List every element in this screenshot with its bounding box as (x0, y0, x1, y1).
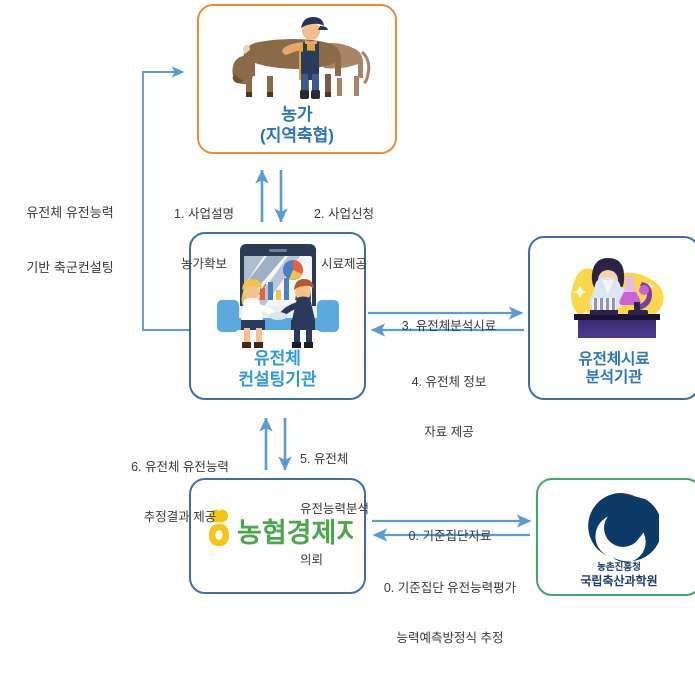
flow-label-step1-line1: 1. 사업설명 (150, 206, 258, 223)
node-farm-title: 농가 (199, 105, 395, 125)
flow-label-step5-line1: 5. 유전체 (300, 451, 430, 468)
node-lab-caption: 유전체시료 분석기관 (530, 351, 695, 388)
node-rda-caption: 농촌진흥청 국립축산과학원 (538, 562, 695, 588)
node-farm-caption: 농가 (지역축협) (199, 105, 395, 146)
flow-label-step1-line2: 농가확보 (150, 256, 258, 273)
flow-label-step3-line1: 3. 유전체분석시료 (366, 318, 532, 335)
farmer-with-cow-icon (225, 12, 375, 108)
flow-label-step2-line2: 시료제공 (288, 256, 400, 273)
node-farm[interactable]: 농가 (지역축협) (197, 4, 397, 154)
flow-label-step0b-line2: 능력예측방정식 추정 (352, 630, 548, 647)
flow-label-step0b-line1: 0. 기준집단 유전능력평가 (352, 580, 548, 597)
flow-label-left-loop-line2: 기반 축군컨설팅 (4, 259, 136, 277)
node-consulting-title: 유전체 (191, 349, 364, 369)
flow-label-left-loop: 유전체 유전능력 기반 축군컨설팅 (4, 168, 136, 314)
node-lab-title: 유전체시료 (530, 351, 695, 370)
flow-label-step6-line1: 6. 유전체 유전능력 (104, 459, 256, 476)
node-lab-subtitle: 분석기관 (530, 369, 695, 388)
node-farm-subtitle: (지역축협) (199, 126, 395, 146)
flow-label-step0a-line1: 0. 기준집단자료 (370, 528, 530, 545)
node-analysis-lab[interactable]: 유전체시료 분석기관 (528, 236, 695, 400)
flow-label-step1: 1. 사업설명 농가확보 (150, 172, 258, 307)
flow-label-step4-line1: 4. 유전체 정보 (366, 374, 532, 391)
node-rda-title: 농촌진흥청 (538, 562, 695, 573)
lab-scientist-icon (550, 252, 680, 352)
flow-label-step2-line1: 2. 사업신청 (288, 206, 400, 223)
diagram-canvas: 농가 (지역축협) (0, 0, 695, 606)
node-rda-subtitle: 국립축산과학원 (538, 574, 695, 588)
flow-label-step0b: 0. 기준집단 유전능력평가 능력예측방정식 추정 (352, 546, 548, 681)
flow-label-step6: 6. 유전체 유전능력 추정결과 제공 (104, 425, 256, 560)
korea-government-taegeuk-icon (583, 488, 659, 564)
node-consulting-caption: 유전체 컨설팅기관 (191, 349, 364, 390)
node-consulting-subtitle: 컨설팅기관 (191, 370, 364, 390)
node-rda-institute[interactable]: 농촌진흥청 국립축산과학원 (536, 478, 695, 596)
flow-label-left-loop-line1: 유전체 유전능력 (4, 204, 136, 222)
flow-label-step6-line2: 추정결과 제공 (104, 509, 256, 526)
